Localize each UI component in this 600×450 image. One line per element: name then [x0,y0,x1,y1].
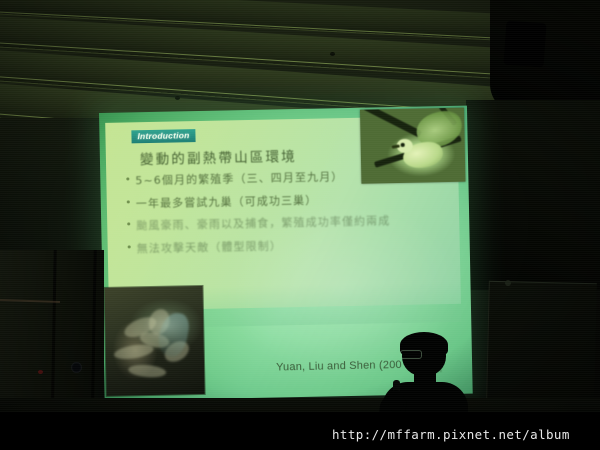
bullet-text: 5~6個月的繁殖季（三、四月至九月） [135,168,343,188]
right-wall-dark [466,100,600,290]
bullet-marker-icon [128,245,131,248]
bullet-text: 颱風豪雨、豪雨以及捕食，繁殖成功率僅約兩成 [136,212,390,233]
bullet-text: 一年最多嘗試九巢（可成功三巢） [136,191,318,211]
list-item: 無法攻擊天敵（體型限制） [128,234,448,255]
ceiling-vent [504,21,547,68]
watermark-url: http://mffarm.pixnet.net/album [332,427,570,442]
bird-photo-image [360,108,465,184]
list-item: 一年最多嘗試九巢（可成功三巢） [127,189,447,210]
ceiling-fixture [175,96,180,100]
bullet-text: 無法攻擊天敵（體型限制） [137,237,282,256]
bullet-marker-icon [127,222,130,225]
presenter-hand [388,390,404,412]
bullet-marker-icon [126,177,129,180]
photo-scene: Introduction 變動的副熱帶山區環境 5~6個月的繁殖季（三、四月至九… [0,0,600,450]
ceiling-fixture [330,52,335,56]
list-item: 颱風豪雨、豪雨以及捕食，繁殖成功率僅約兩成 [127,211,447,232]
red-indicator-light [38,370,43,374]
painting-photo-image [103,285,205,397]
presenter-glasses [400,350,422,359]
wall-knob [71,362,82,373]
bullet-marker-icon [127,200,130,203]
slide-section-tab: Introduction [131,129,195,143]
board-clip [505,280,511,286]
photo-blur-overlay [360,108,465,184]
